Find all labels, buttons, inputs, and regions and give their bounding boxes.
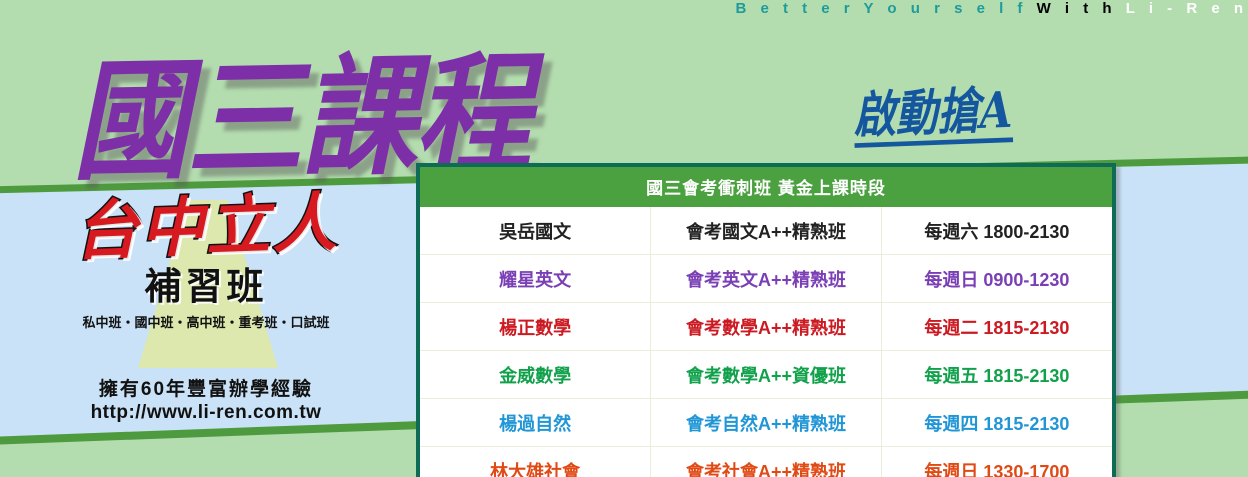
cell-teacher: 金威數學 — [420, 351, 651, 399]
cell-time: 每週六 1800-2130 — [881, 207, 1112, 255]
cell-course: 會考自然A++精熟班 — [651, 399, 882, 447]
logo-school-name: 台中立人 — [19, 190, 393, 267]
school-logo: 台中立人 補習班 私中班・國中班・高中班・重考班・口試班 — [20, 196, 392, 331]
cell-time: 每週四 1815-2130 — [881, 399, 1112, 447]
cell-teacher: 林大雄社會 — [420, 447, 651, 477]
table-row: 楊過自然會考自然A++精熟班每週四 1815-2130 — [420, 399, 1112, 447]
table-row: 金威數學會考數學A++資優班每週五 1815-2130 — [420, 351, 1112, 399]
logo-class-categories: 私中班・國中班・高中班・重考班・口試班 — [20, 312, 392, 331]
cell-time: 每週二 1815-2130 — [881, 303, 1112, 351]
table-row: 林大雄社會會考社會A++精熟班每週日 1330-1700 — [420, 447, 1112, 477]
cell-teacher: 楊過自然 — [420, 399, 651, 447]
cell-course: 會考社會A++精熟班 — [651, 447, 882, 477]
schedule-header-row: 國三會考衝刺班 黃金上課時段 — [420, 167, 1112, 207]
cell-time: 每週五 1815-2130 — [881, 351, 1112, 399]
table-row: 耀星英文會考英文A++精熟班每週日 0900-1230 — [420, 255, 1112, 303]
table-row: 楊正數學會考數學A++精熟班每週二 1815-2130 — [420, 303, 1112, 351]
page-subtitle: 啟動搶A — [852, 70, 1013, 148]
cell-time: 每週日 1330-1700 — [881, 447, 1112, 477]
tagline-part-2: W i t h — [1037, 0, 1126, 17]
cell-teacher: 楊正數學 — [420, 303, 651, 351]
cell-time: 每週日 0900-1230 — [881, 255, 1112, 303]
schedule-table: 國三會考衝刺班 黃金上課時段 吳岳國文會考國文A++精熟班每週六 1800-21… — [420, 167, 1112, 477]
schedule-table-wrapper: 國三會考衝刺班 黃金上課時段 吳岳國文會考國文A++精熟班每週六 1800-21… — [416, 163, 1116, 477]
cell-course: 會考數學A++資優班 — [651, 351, 882, 399]
cell-course: 會考數學A++精熟班 — [651, 303, 882, 351]
promo-banner: B e t t e r Y o u r s e l f W i t h L i … — [0, 0, 1248, 477]
cell-course: 會考國文A++精熟班 — [651, 207, 882, 255]
table-row: 吳岳國文會考國文A++精熟班每週六 1800-2130 — [420, 207, 1112, 255]
schedule-table-body: 吳岳國文會考國文A++精熟班每週六 1800-2130耀星英文會考英文A++精熟… — [420, 207, 1112, 477]
cell-course: 會考英文A++精熟班 — [651, 255, 882, 303]
experience-text: 擁有60年豐富辦學經驗 — [20, 374, 392, 401]
cell-teacher: 耀星英文 — [420, 255, 651, 303]
schedule-table-head: 國三會考衝刺班 黃金上課時段 — [420, 167, 1112, 207]
school-credentials: 擁有60年豐富辦學經驗 http://www.li-ren.com.tw — [20, 374, 392, 424]
schedule-header-title: 國三會考衝刺班 黃金上課時段 — [420, 167, 1112, 207]
cell-teacher: 吳岳國文 — [420, 207, 651, 255]
tagline-part-1: B e t t e r Y o u r s e l f — [735, 0, 1036, 17]
tagline-part-3: L i - R e n — [1126, 0, 1248, 17]
website-url[interactable]: http://www.li-ren.com.tw — [20, 402, 392, 424]
